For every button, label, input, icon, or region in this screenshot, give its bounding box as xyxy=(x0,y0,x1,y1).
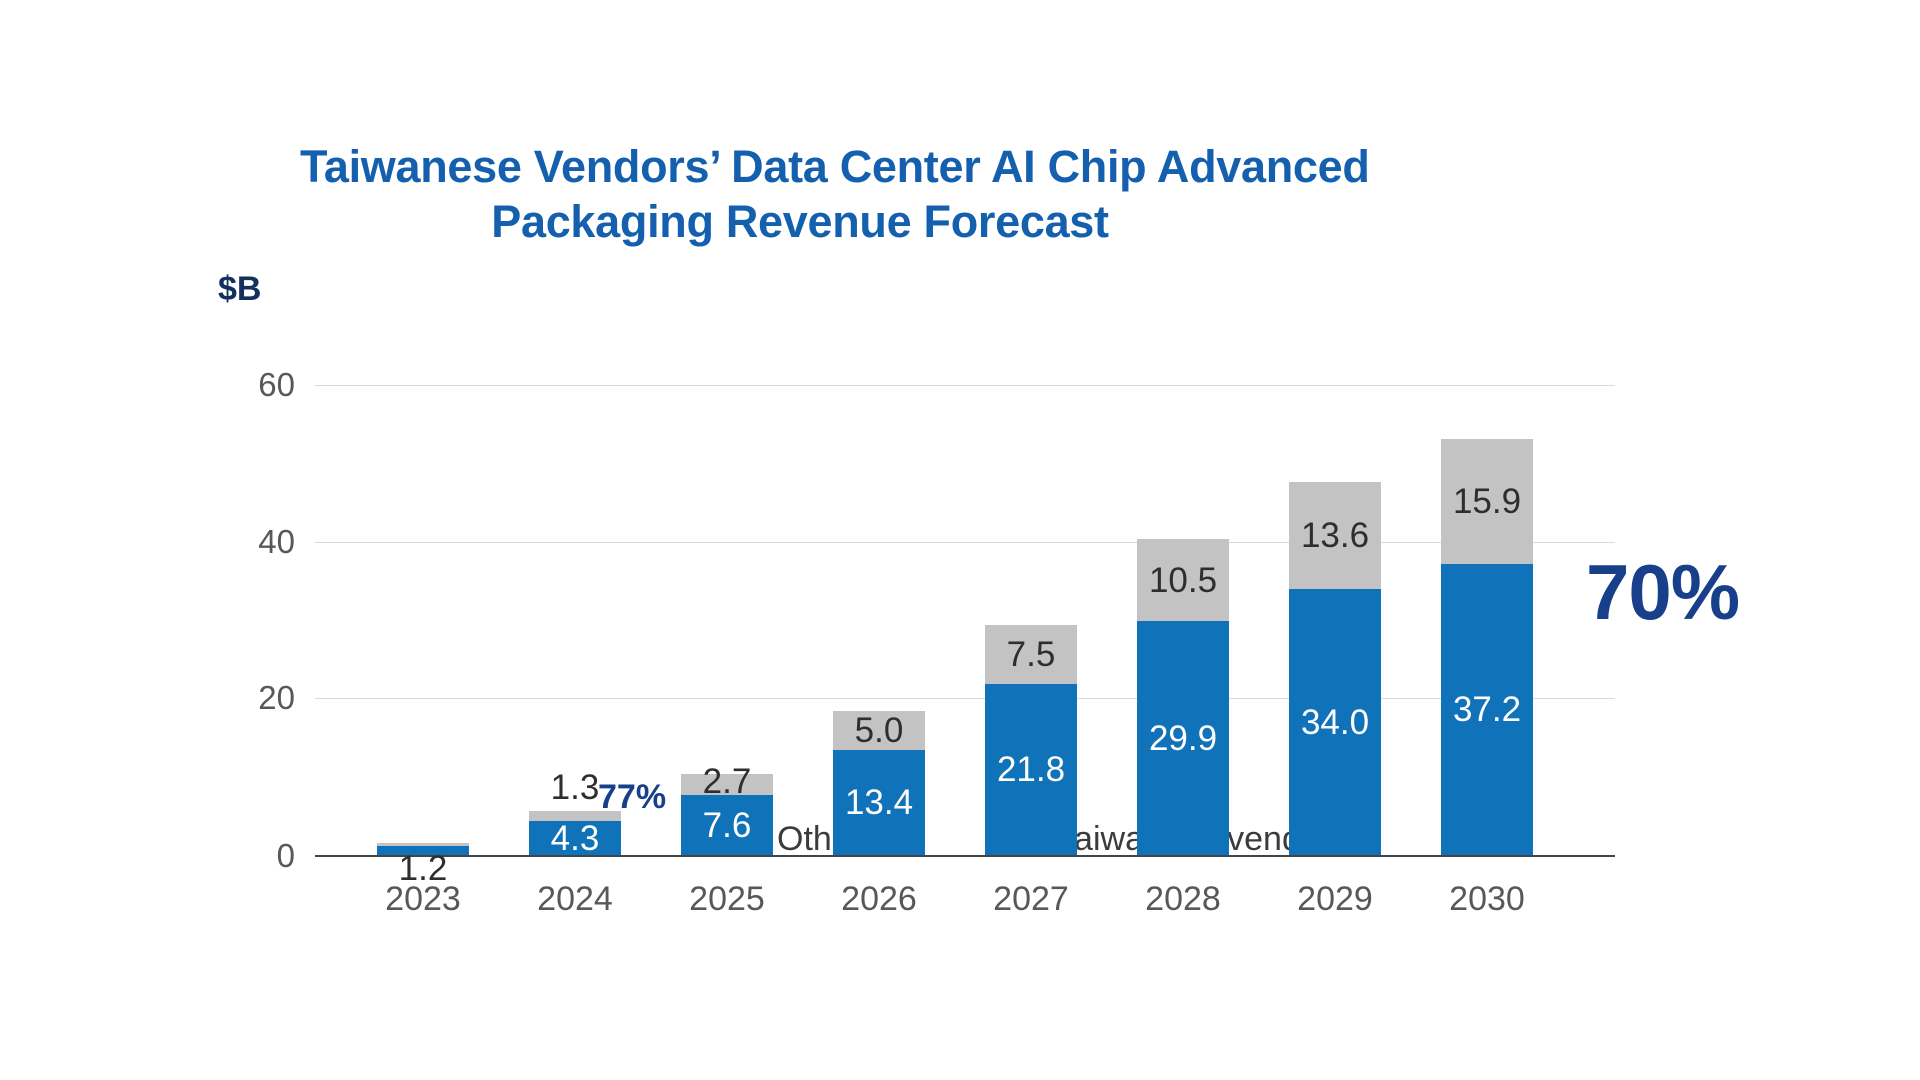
bar-value-others-2030: 15.9 xyxy=(1453,484,1521,519)
bar-group-2023[interactable]: 1.2 xyxy=(377,843,469,855)
bar-group-2028[interactable]: 10.5 29.9 xyxy=(1137,539,1229,855)
bar-group-2026[interactable]: 5.0 13.4 xyxy=(833,711,925,855)
bar-segment-taiwanese-2023[interactable]: 1.2 xyxy=(377,846,469,855)
y-tick-label-20: 20 xyxy=(175,679,295,717)
bar-value-taiwanese-2030: 37.2 xyxy=(1453,692,1521,727)
bar-value-others-2024: 1.3 xyxy=(551,770,600,805)
bar-segment-taiwanese-2025[interactable]: 7.6 xyxy=(681,795,773,855)
bar-value-taiwanese-2026: 13.4 xyxy=(845,785,913,820)
chart-slide: Taiwanese Vendors’ Data Center AI Chip A… xyxy=(0,0,1920,1080)
bar-segment-others-2027[interactable]: 7.5 xyxy=(985,625,1077,684)
bar-value-taiwanese-2027: 21.8 xyxy=(997,752,1065,787)
bar-value-taiwanese-2028: 29.9 xyxy=(1149,721,1217,756)
x-tick-label-2029: 2029 xyxy=(1265,880,1405,919)
x-tick-label-2024: 2024 xyxy=(505,880,645,919)
bar-group-2027[interactable]: 7.5 21.8 xyxy=(985,625,1077,855)
bar-segment-taiwanese-2027[interactable]: 21.8 xyxy=(985,684,1077,855)
bar-value-taiwanese-2024: 4.3 xyxy=(551,821,600,856)
bar-value-others-2027: 7.5 xyxy=(1007,637,1056,672)
bar-group-2030[interactable]: 15.9 37.2 xyxy=(1441,439,1533,855)
x-tick-label-2028: 2028 xyxy=(1113,880,1253,919)
bar-segment-taiwanese-2028[interactable]: 29.9 xyxy=(1137,621,1229,855)
bar-value-taiwanese-2025: 7.6 xyxy=(703,808,752,843)
bar-segment-others-2029[interactable]: 13.6 xyxy=(1289,482,1381,589)
bar-segment-others-2025[interactable]: 2.7 xyxy=(681,774,773,795)
y-tick-label-0: 0 xyxy=(175,837,295,875)
bar-segment-taiwanese-2024[interactable]: 4.3 xyxy=(529,821,621,855)
bar-segment-taiwanese-2029[interactable]: 34.0 xyxy=(1289,589,1381,855)
gridline-20 xyxy=(315,698,1615,699)
bar-value-others-2028: 10.5 xyxy=(1149,563,1217,598)
gridline-40 xyxy=(315,542,1615,543)
gridline-60 xyxy=(315,385,1615,386)
bar-group-2024[interactable]: 1.3 4.3 xyxy=(529,811,621,855)
bar-value-others-2029: 13.6 xyxy=(1301,518,1369,553)
bar-group-2025[interactable]: 2.7 7.6 xyxy=(681,774,773,855)
chart-title: Taiwanese Vendors’ Data Center AI Chip A… xyxy=(300,140,1300,250)
chart-title-line-1: Taiwanese Vendors’ Data Center AI Chip A… xyxy=(300,140,1300,195)
plot-area: 60 40 20 0 Others Taiwanese vendors 1.2 xyxy=(315,380,1615,860)
annotation-70-percent: 70% xyxy=(1586,547,1739,638)
x-tick-label-2023: 2023 xyxy=(353,880,493,919)
y-axis-unit-label: $B xyxy=(218,270,261,309)
bar-value-taiwanese-2029: 34.0 xyxy=(1301,705,1369,740)
bar-segment-taiwanese-2030[interactable]: 37.2 xyxy=(1441,564,1533,855)
chart-title-line-2: Packaging Revenue Forecast xyxy=(300,195,1300,250)
annotation-77-percent: 77% xyxy=(598,778,666,817)
bar-value-others-2026: 5.0 xyxy=(855,713,904,748)
y-tick-label-40: 40 xyxy=(175,523,295,561)
x-tick-label-2026: 2026 xyxy=(809,880,949,919)
x-tick-label-2030: 2030 xyxy=(1417,880,1557,919)
y-tick-label-60: 60 xyxy=(175,366,295,404)
bar-value-others-2025: 2.7 xyxy=(703,764,752,799)
bar-group-2029[interactable]: 13.6 34.0 xyxy=(1289,482,1381,855)
bar-segment-others-2028[interactable]: 10.5 xyxy=(1137,539,1229,621)
bar-segment-taiwanese-2026[interactable]: 13.4 xyxy=(833,750,925,855)
bar-segment-others-2026[interactable]: 5.0 xyxy=(833,711,925,750)
x-tick-label-2027: 2027 xyxy=(961,880,1101,919)
x-tick-label-2025: 2025 xyxy=(657,880,797,919)
bar-segment-others-2030[interactable]: 15.9 xyxy=(1441,439,1533,564)
